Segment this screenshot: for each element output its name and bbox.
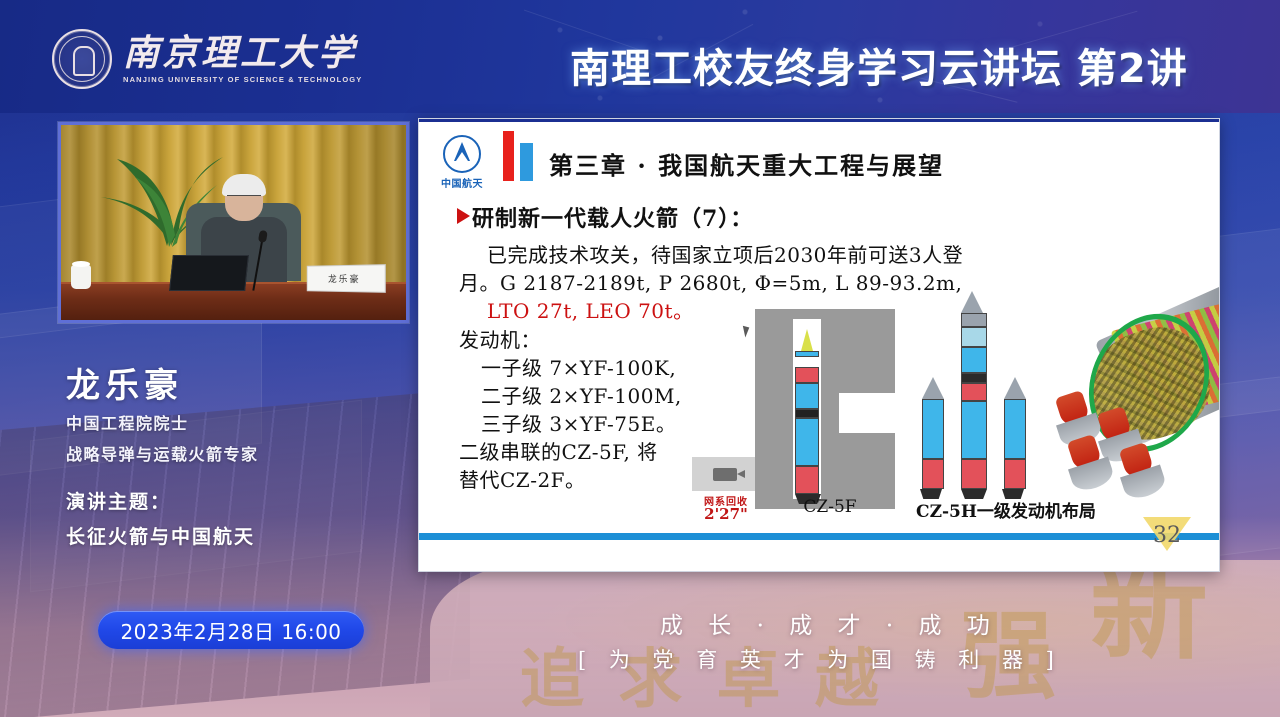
speaker-credential-2: 战略导弹与运载火箭专家	[66, 441, 259, 465]
slide-body-line: 一子级 7×YF-100K,	[481, 352, 676, 381]
slide-body-line-highlight: LTO 27t, LEO 70t。	[487, 295, 694, 324]
booster-nose-cone	[922, 377, 944, 399]
booster-segment	[922, 399, 944, 459]
slide-body-line: 月。G 2187-2189t, P 2680t, Φ=5m, L 89-93.2…	[459, 267, 962, 296]
core-nose-cone	[961, 291, 983, 313]
university-seal-icon	[52, 29, 112, 89]
university-wordmark: 南京理工大学 NANJING UNIVERSITY OF SCIENCE & T…	[123, 35, 362, 84]
presentation-slide[interactable]: 中国航天 第三章 · 我国航天重大工程与展望 研制新一代载人火箭（7）： 已完成…	[418, 118, 1220, 572]
core-segment	[961, 327, 987, 347]
session-datetime-badge: 2023年2月28日 16:00	[98, 611, 364, 649]
booster-nose-cone	[1004, 377, 1026, 399]
rocket-segment	[795, 351, 819, 357]
core-segment	[961, 313, 987, 327]
bullet-arrow-icon	[457, 208, 470, 224]
broadcast-stage: 新 强 追 求 卓 越 南京理工大学 NANJING UNIVERSITY OF…	[0, 0, 1280, 717]
figure-label-left: CZ-5F	[785, 497, 875, 517]
slide-body-line: 发动机：	[459, 324, 541, 353]
speaker-name: 龙乐豪	[66, 358, 183, 407]
slide-chapter-title: 第三章 · 我国航天重大工程与展望	[549, 146, 944, 181]
slogan-line-1: 成 长 · 成 才 · 成 功	[660, 606, 999, 640]
seal-ring	[54, 31, 110, 87]
slide-bottom-rule	[419, 533, 1219, 540]
casc-emblem-icon	[443, 135, 481, 173]
slide-top-rule	[419, 119, 1219, 122]
page-title: 南理工校友终身学习云讲坛 第2讲	[570, 36, 1188, 94]
video-nameplate-text: 龙乐豪	[328, 272, 361, 285]
launch-pad-silhouette	[755, 309, 895, 509]
mouse-pointer-icon	[743, 325, 751, 338]
video-teacup	[71, 265, 91, 289]
figure-cz5h-diagram	[909, 291, 1039, 509]
speaker-hair	[222, 174, 266, 196]
speaker-topic: 长征火箭与中国航天	[66, 522, 255, 549]
figure-label-right: CZ-5H一级发动机布局	[881, 497, 1131, 522]
speaker-topic-label: 演讲主题：	[66, 487, 171, 514]
embedded-video-duration: 2'27"	[687, 505, 765, 523]
slide-page-indicator: 32	[1137, 517, 1197, 557]
video-nameplate: 龙乐豪	[307, 264, 386, 293]
core-segment	[961, 383, 987, 401]
rocket-segment	[795, 367, 819, 383]
casc-logo-text: 中国航天	[431, 175, 493, 190]
page-header: 南京理工大学 NANJING UNIVERSITY OF SCIENCE & T…	[0, 0, 1280, 113]
rocket-interstage	[795, 409, 819, 418]
slide-body-line: 替代CZ-2F。	[459, 464, 586, 493]
booster-segment	[922, 459, 944, 489]
core-interstage	[961, 373, 987, 383]
slide-body-line: 二级串联的CZ-5F, 将	[459, 436, 658, 465]
rocket-segment	[795, 466, 819, 494]
speaker-credential-1: 中国工程院院士	[66, 410, 189, 434]
session-datetime-text: 2023年2月28日 16:00	[120, 616, 341, 645]
slide-bullet-text: 研制新一代载人火箭（7）：	[472, 201, 753, 233]
rocket-nose-cone	[801, 329, 813, 351]
background-building	[0, 389, 470, 717]
speaker-glasses	[227, 195, 261, 203]
speaker-video[interactable]: 龙乐豪	[58, 122, 409, 323]
slide-bullet-row: 研制新一代载人火箭（7）：	[457, 201, 753, 233]
university-name-en: NANJING UNIVERSITY OF SCIENCE & TECHNOLO…	[123, 76, 362, 84]
university-logo: 南京理工大学 NANJING UNIVERSITY OF SCIENCE & T…	[52, 29, 362, 89]
casc-logo: 中国航天	[431, 135, 493, 190]
slide-page-number: 32	[1137, 523, 1197, 548]
slide-body-line: 三子级 3×YF-75E。	[481, 408, 676, 437]
rocket-segment	[795, 418, 819, 466]
slide-accent-bar-red	[503, 131, 514, 181]
figure-engine-cluster-render	[1055, 297, 1220, 502]
video-camera-icon	[713, 468, 737, 481]
video-laptop	[169, 255, 249, 291]
embedded-video-thumbnail[interactable]	[692, 457, 758, 491]
figure-cz5f-diagram	[755, 309, 895, 509]
booster-segment	[1004, 459, 1026, 489]
slogan-line-2: [ 为 党 育 英 才 为 国 铸 利 器 ]	[578, 644, 1062, 674]
core-segment	[961, 347, 987, 373]
slide-body-line: 二子级 2×YF-100M,	[481, 380, 682, 409]
rocket-segment	[795, 383, 819, 409]
slide-accent-bar-blue	[520, 143, 533, 181]
slide-body-line: 已完成技术攻关，待国家立项后2030年前可送3人登	[487, 239, 963, 268]
booster-segment	[1004, 399, 1026, 459]
engine-nozzle-bell	[1112, 440, 1168, 502]
core-segment	[961, 401, 987, 459]
core-segment	[961, 459, 987, 489]
university-name-cn: 南京理工大学	[123, 35, 362, 71]
